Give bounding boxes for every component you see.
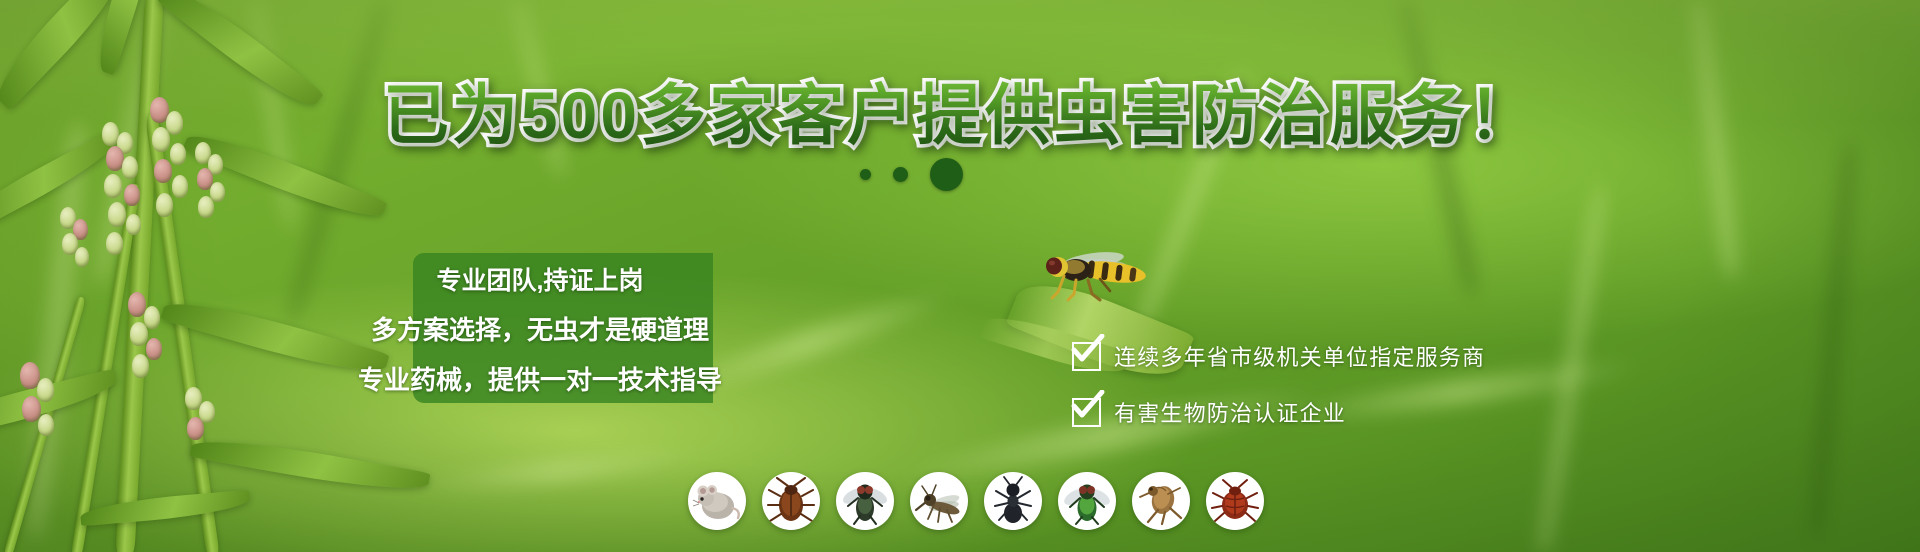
dot-medium-icon — [893, 167, 908, 182]
feature-line-3: 专业药械，提供一对一技术指导 — [340, 360, 740, 397]
bullet-label-2: 有害生物防治认证企业 — [1114, 396, 1346, 428]
cockroach-icon[interactable] — [762, 472, 820, 530]
ant-icon[interactable] — [984, 472, 1042, 530]
checkbox-checked-icon — [1072, 398, 1101, 427]
dot-small-icon — [860, 169, 871, 180]
pest-icon-row — [688, 472, 1264, 530]
feature-line-1: 专业团队,持证上岗 — [340, 261, 740, 297]
green-bottle-fly-icon[interactable] — [1058, 472, 1116, 530]
list-item: 有害生物防治认证企业 — [1072, 396, 1485, 428]
bullet-label-1: 连续多年省市级机关单位指定服务商 — [1114, 340, 1485, 372]
certification-bullets: 连续多年省市级机关单位指定服务商 有害生物防治认证企业 — [1072, 340, 1485, 428]
checkbox-checked-icon — [1072, 342, 1101, 371]
list-item: 连续多年省市级机关单位指定服务商 — [1072, 340, 1485, 372]
mosquito-icon[interactable] — [910, 472, 968, 530]
flea-icon[interactable] — [1132, 472, 1190, 530]
bedbug-icon[interactable] — [1206, 472, 1264, 530]
mouse-icon[interactable] — [688, 472, 746, 530]
dot-large-icon — [930, 158, 963, 191]
decorative-dots — [860, 158, 963, 191]
fly-icon[interactable] — [836, 472, 894, 530]
features-panel-text: 专业团队,持证上岗 多方案选择，无虫才是硬道理 专业药械，提供一对一技术指导 — [340, 258, 740, 400]
hoverfly-photo — [1040, 250, 1155, 302]
feature-line-2: 多方案选择，无虫才是硬道理 — [340, 310, 740, 347]
promo-banner: 已为500多家客户提供虫害防治服务！ 已为500多家客户提供虫害防治服务！ — [0, 0, 1920, 552]
